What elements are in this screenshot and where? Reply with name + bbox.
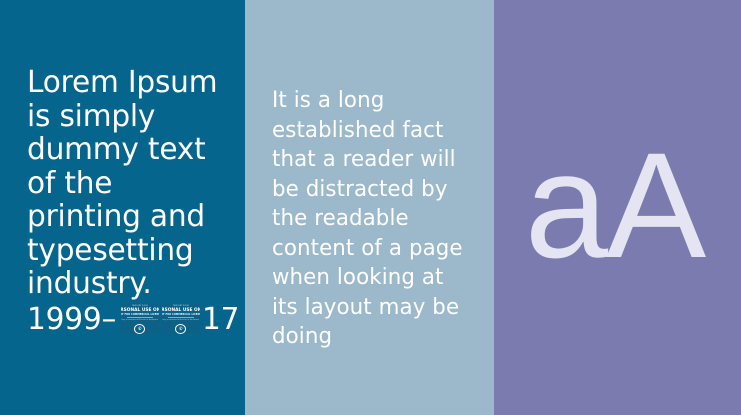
watermark-subline: NOT FOR COMMERCIAL LICENSE (121, 313, 159, 316)
panel-headline: Lorem Ipsum is simply dummy text of the … (0, 0, 245, 415)
watermark-topline: THIS FONT IS FOR (173, 306, 189, 308)
glyph-pair-aA: aA (525, 130, 710, 280)
copyright-badge-icon: © (175, 324, 186, 334)
font-specimen-canvas: Lorem Ipsum is simply dummy text of the … (0, 0, 741, 415)
watermark-group: THIS FONT IS FOR PERSONAL USE ONLY NOT F… (119, 304, 202, 337)
headline-text: Lorem Ipsum is simply dummy text of the … (27, 66, 231, 301)
watermark-url: buy a commercial license at fontspace (122, 319, 159, 322)
body-copy-text: It is a long established fact that a rea… (272, 86, 482, 352)
watermark-stamp: THIS FONT IS FOR PERSONAL USE ONLY NOT F… (121, 304, 159, 334)
watermark-stamp: THIS FONT IS FOR PERSONAL USE ONLY NOT F… (162, 304, 200, 334)
watermark-divider-icon (168, 317, 194, 318)
copyright-badge-icon: © (134, 324, 145, 334)
watermark-divider-icon (127, 317, 153, 318)
year-range-start: 1999– (27, 303, 116, 337)
year-range-end: 17 (202, 303, 239, 337)
watermark-url: buy a commercial license at fontspace (163, 319, 200, 322)
headline-year-line: 1999– THIS FONT IS FOR PERSONAL USE ONLY… (27, 301, 237, 337)
watermark-topline: THIS FONT IS FOR (132, 306, 148, 308)
watermark-subline: NOT FOR COMMERCIAL LICENSE (162, 313, 200, 316)
panel-body-copy: It is a long established fact that a rea… (245, 0, 494, 415)
panel-glyph-showcase: aA (494, 0, 741, 415)
